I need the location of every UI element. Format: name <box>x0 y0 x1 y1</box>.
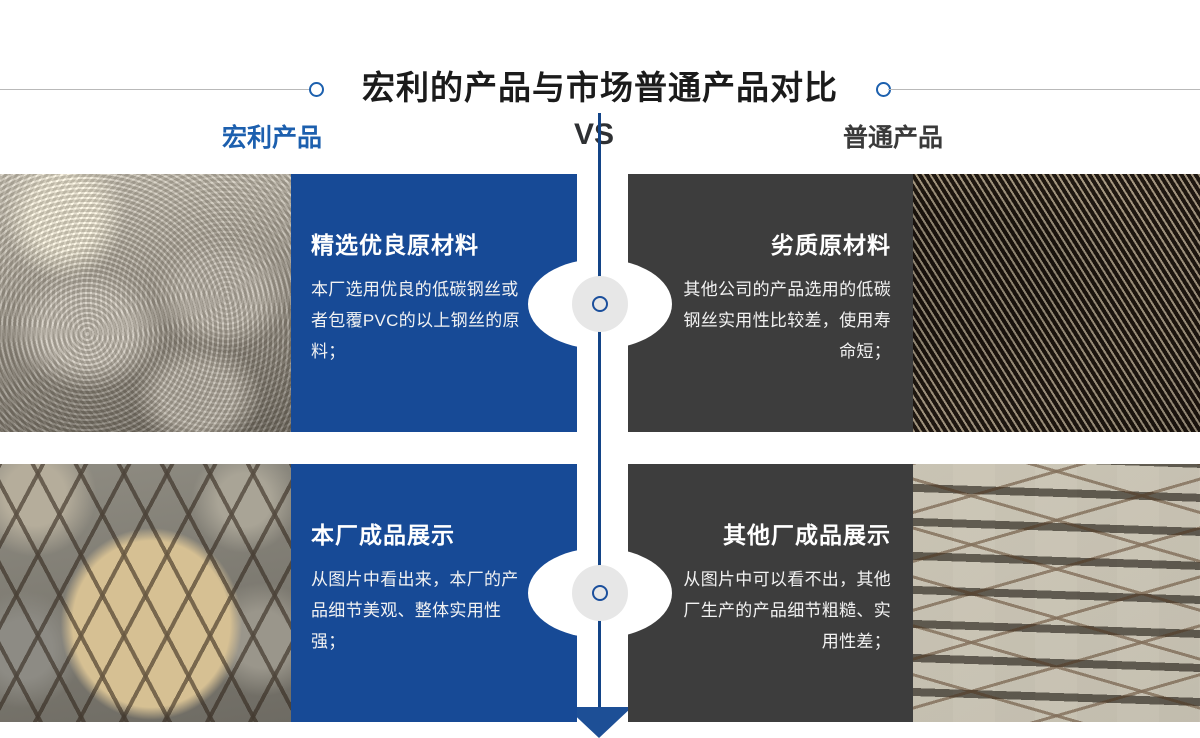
photo-art <box>0 464 291 722</box>
wire-coils-warehouse-photo <box>0 174 291 432</box>
timeline-node <box>528 259 672 349</box>
panel-body: 从图片中可以看不出，其他厂生产的产品细节粗糙、实用性差； <box>675 564 891 657</box>
panel-title: 劣质原材料 <box>628 226 891 260</box>
panel-title: 精选优良原材料 <box>311 226 577 260</box>
timeline-node <box>528 548 672 638</box>
rusty-wire-coil-photo <box>913 174 1200 432</box>
node-ring-icon <box>592 585 608 601</box>
column-header-common: 普通产品 <box>843 118 943 154</box>
column-header-hongli: 宏利产品 <box>222 118 322 154</box>
node-ring-icon <box>592 296 608 312</box>
page-header: 宏利的产品与市场普通产品对比 <box>0 30 1200 90</box>
page-title: 宏利的产品与市场普通产品对比 <box>0 58 1200 118</box>
photo-art <box>913 174 1200 432</box>
photo-art <box>0 174 291 432</box>
column-header-vs: VS <box>574 118 614 152</box>
photo-art <box>913 464 1200 722</box>
panel-title: 其他厂成品展示 <box>628 516 891 550</box>
gabion-stone-wall-photo <box>913 464 1200 722</box>
panel-title: 本厂成品展示 <box>311 516 577 550</box>
panel-body: 本厂选用优良的低碳钢丝或者包覆PVC的以上钢丝的原料； <box>311 274 523 367</box>
panel-body: 从图片中看出来，本厂的产品细节美观、整体实用性强； <box>311 564 523 657</box>
title-rule-right <box>888 89 1200 90</box>
panel-body: 其他公司的产品选用的低碳钢丝实用性比较差，使用寿命短； <box>675 274 891 367</box>
gabion-rock-basket-photo <box>0 464 291 722</box>
